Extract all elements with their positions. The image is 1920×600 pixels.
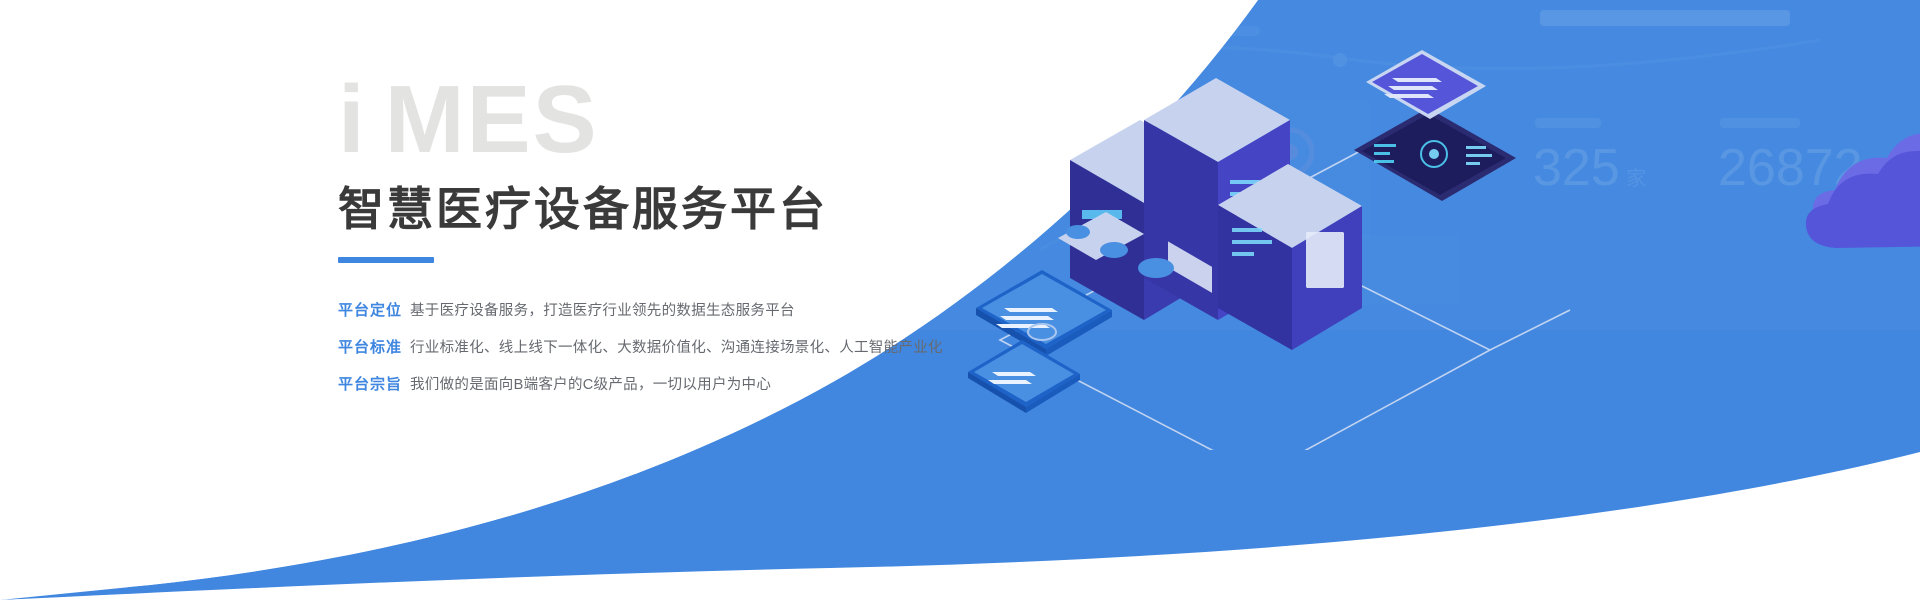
- feature-text: 行业标准化、线上线下一体化、大数据价值化、沟通连接场景化、人工智能产业化: [410, 336, 943, 357]
- feature-text: 我们做的是面向B端客户的C级产品，一切以用户为中心: [410, 373, 771, 394]
- watermark-logo-text: iMES: [338, 72, 978, 168]
- feature-label: 平台宗旨: [338, 373, 410, 394]
- floating-card-top: [1366, 50, 1486, 119]
- floating-card-bottom: [968, 340, 1080, 413]
- tablet-dashboard: [1354, 108, 1516, 201]
- watermark-letters-mes: MES: [385, 66, 599, 173]
- list-item: 平台标准 行业标准化、线上线下一体化、大数据价值化、沟通连接场景化、人工智能产业…: [338, 336, 978, 357]
- page-title: 智慧医疗设备服务平台: [338, 184, 978, 235]
- list-item: 平台定位 基于医疗设备服务，打造医疗行业领先的数据生态服务平台: [338, 299, 978, 320]
- cloud-icon: [1806, 133, 1920, 248]
- watermark-letter-i: i: [338, 66, 367, 173]
- feature-label: 平台标准: [338, 336, 410, 357]
- hero-banner: 325 家 26872 台: [0, 0, 1920, 600]
- hero-copy-block: iMES 智慧医疗设备服务平台 平台定位 基于医疗设备服务，打造医疗行业领先的数…: [338, 72, 978, 410]
- list-item: 平台宗旨 我们做的是面向B端客户的C级产品，一切以用户为中心: [338, 373, 978, 394]
- feature-text: 基于医疗设备服务，打造医疗行业领先的数据生态服务平台: [410, 299, 795, 320]
- accent-bar: [338, 257, 434, 263]
- feature-list: 平台定位 基于医疗设备服务，打造医疗行业领先的数据生态服务平台 平台标准 行业标…: [338, 299, 978, 394]
- feature-label: 平台定位: [338, 299, 410, 320]
- isometric-data-center-illustration: [930, 20, 1920, 450]
